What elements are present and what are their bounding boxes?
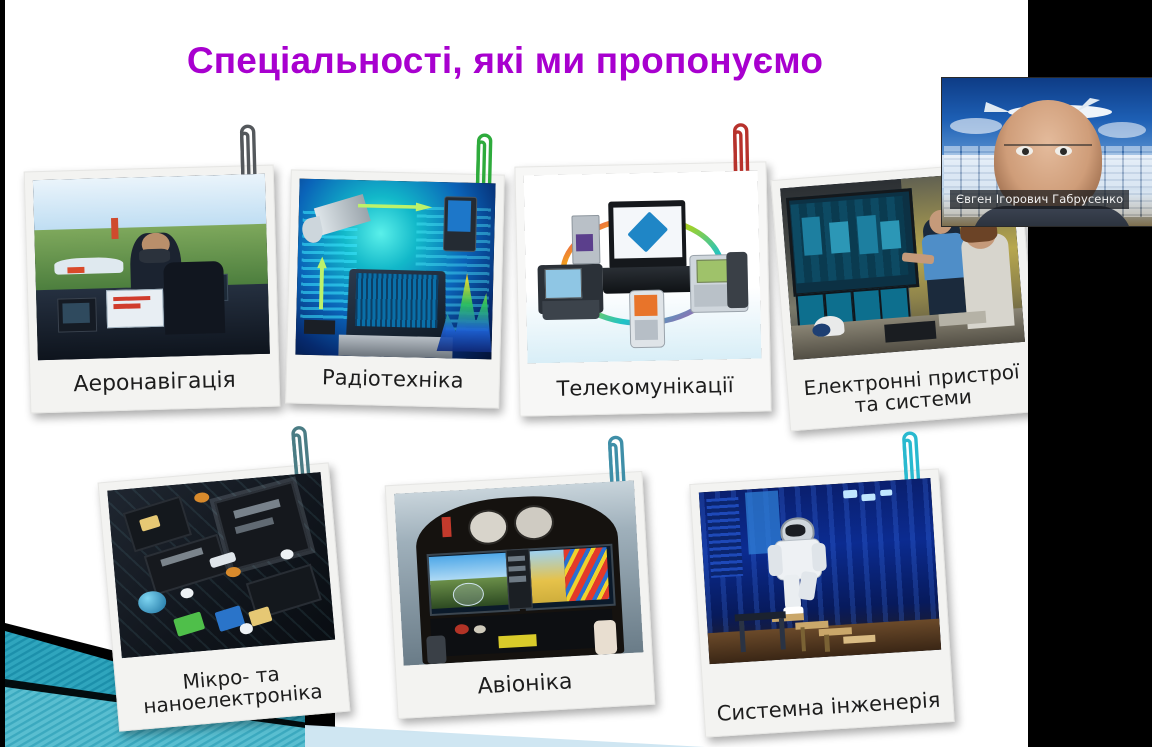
- presentation-slide: Спеціальності, які ми пропонуємо: [5, 0, 1028, 747]
- card-label: Мікро- та наноелектроніка: [120, 658, 345, 720]
- card-label: Електронні пристрої та системи: [791, 360, 1028, 422]
- participant-shoulders: [972, 206, 1132, 227]
- participant-pupil-left: [1022, 148, 1029, 155]
- speciality-card-radio-engineering[interactable]: Радіотехніка: [285, 169, 505, 408]
- speciality-card-avionics[interactable]: Авіоніка: [385, 471, 656, 719]
- speciality-card-aeronavigation[interactable]: Аеронавігація: [24, 165, 281, 414]
- speciality-card-micro-nanoelectronics[interactable]: Мікро- та наноелектроніка: [98, 462, 351, 731]
- telecom-devices-photo: [524, 171, 762, 364]
- humanoid-robot-stairs-photo: [699, 478, 941, 664]
- screen: Спеціальності, які ми пропонуємо: [0, 0, 1152, 747]
- card-label: Авіоніка: [401, 666, 650, 704]
- webcam-video-tile[interactable]: Євген Ігорович Габрусенко: [941, 77, 1152, 227]
- card-label: Системна інженерія: [708, 689, 949, 727]
- card-label: Радіотехніка: [291, 366, 495, 394]
- participant-name-label: Євген Ігорович Габрусенко: [950, 190, 1129, 209]
- air-traffic-control-tower-photo: [33, 174, 270, 360]
- slide-title: Спеціальності, які ми пропонуємо: [65, 40, 945, 82]
- participant-pupil-right: [1060, 148, 1067, 155]
- speciality-card-telecommunications[interactable]: Телекомунікації: [514, 161, 771, 416]
- speciality-card-systems-engineering[interactable]: Системна інженерія: [689, 468, 954, 737]
- card-label: Телекомунікації: [524, 374, 766, 402]
- printed-circuit-board-photo: [107, 472, 335, 658]
- glass-cockpit-panel-photo: [394, 480, 643, 665]
- radio-electronics-collage-photo: [295, 179, 495, 360]
- card-label: Аеронавігація: [34, 368, 275, 398]
